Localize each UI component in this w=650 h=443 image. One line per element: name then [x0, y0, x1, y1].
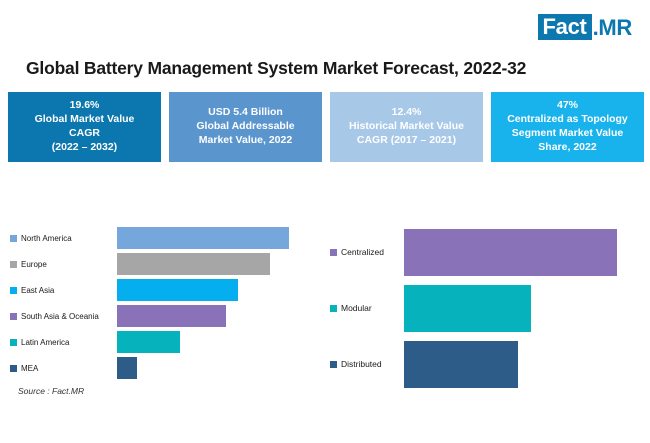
bar-track: [117, 331, 318, 353]
bar-row: Distributed: [330, 338, 640, 390]
stat-card-historical-market-value-cagr: 12.4%Historical Market ValueCAGR (2017 –…: [330, 92, 483, 162]
bar-row: Modular: [330, 282, 640, 334]
legend-item-east-asia: East Asia: [10, 286, 117, 295]
bar-track: [117, 253, 318, 275]
bar-track: [404, 285, 640, 332]
bar: [404, 341, 518, 388]
legend-swatch-icon: [330, 361, 337, 368]
panel-market-split-regions: Market Split by Regions, 2021 North Amer…: [10, 186, 318, 382]
legend-swatch-icon: [330, 305, 337, 312]
page-title: Global Battery Management System Market …: [26, 58, 626, 79]
bar-track: [117, 279, 318, 301]
stat-card-line: 47%: [557, 99, 578, 113]
legend-label: Centralized: [341, 247, 384, 257]
bar-track: [404, 229, 640, 276]
panel-header-regions: Market Split by Regions, 2021: [10, 186, 318, 212]
stat-card-line: Centralized as Topology: [507, 113, 628, 127]
bar-track: [117, 227, 318, 249]
legend-item-distributed: Distributed: [330, 359, 404, 369]
bar-row: South Asia & Oceania: [10, 304, 318, 328]
legend-swatch-icon: [10, 261, 17, 268]
stat-card-global-market-value-cagr: 19.6%Global Market ValueCAGR(2022 – 2032…: [8, 92, 161, 162]
legend-label: North America: [21, 234, 72, 243]
bar: [117, 227, 289, 249]
bar-row: North America: [10, 226, 318, 250]
factmr-logo: Fact .MR: [538, 14, 632, 40]
infographic-page: Fact .MR Global Battery Management Syste…: [0, 0, 650, 443]
stat-card-line: Share, 2022: [538, 141, 596, 155]
legend-label: South Asia & Oceania: [21, 312, 99, 321]
bar: [117, 305, 226, 327]
stat-card-line: Global Market Value: [35, 113, 135, 127]
legend-label: Modular: [341, 303, 372, 313]
stat-card-centralized-topology-share: 47%Centralized as TopologySegment Market…: [491, 92, 644, 162]
stat-card-line: Global Addressable: [196, 120, 294, 134]
legend-item-centralized: Centralized: [330, 247, 404, 257]
legend-label: Distributed: [341, 359, 382, 369]
bar-row: Centralized: [330, 226, 640, 278]
legend-swatch-icon: [10, 287, 17, 294]
bar-row: Latin America: [10, 330, 318, 354]
legend-swatch-icon: [10, 235, 17, 242]
bar-track: [117, 357, 318, 379]
bar-row: East Asia: [10, 278, 318, 302]
stat-card-global-addressable-market-value: USD 5.4 BillionGlobal AddressableMarket …: [169, 92, 322, 162]
panel-market-split-topology: Market Split by Topology, 2021 Centraliz…: [330, 186, 640, 394]
bar: [404, 285, 531, 332]
bar: [117, 279, 238, 301]
bar-track: [404, 341, 640, 388]
bar-row: Europe: [10, 252, 318, 276]
stat-card-line: CAGR: [69, 127, 100, 141]
legend-swatch-icon: [10, 339, 17, 346]
bar-row: MEA: [10, 356, 318, 380]
bar-track: [117, 305, 318, 327]
stat-card-line: CAGR (2017 – 2021): [357, 134, 456, 148]
legend-swatch-icon: [10, 365, 17, 372]
bar: [117, 253, 270, 275]
bar: [117, 357, 137, 379]
legend-label: Latin America: [21, 338, 69, 347]
chart-regions: North AmericaEuropeEast AsiaSouth Asia &…: [10, 226, 318, 380]
stat-card-line: 19.6%: [70, 99, 100, 113]
stat-card-row: 19.6%Global Market ValueCAGR(2022 – 2032…: [8, 92, 644, 162]
stat-card-line: Market Value, 2022: [199, 134, 292, 148]
legend-label: East Asia: [21, 286, 54, 295]
stat-card-line: Segment Market Value: [512, 127, 623, 141]
legend-label: Europe: [21, 260, 47, 269]
stat-card-line: Historical Market Value: [349, 120, 464, 134]
stat-card-line: (2022 – 2032): [52, 141, 117, 155]
chart-topology: CentralizedModularDistributed: [330, 226, 640, 390]
logo-mark-text: Fact: [538, 14, 592, 40]
logo-suffix-text: .MR: [592, 16, 632, 39]
source-note: Source : Fact.MR: [18, 386, 84, 396]
legend-item-south-asia-oceania: South Asia & Oceania: [10, 312, 117, 321]
legend-item-modular: Modular: [330, 303, 404, 313]
legend-label: MEA: [21, 364, 38, 373]
legend-swatch-icon: [10, 313, 17, 320]
bar: [404, 229, 617, 276]
legend-item-latin-america: Latin America: [10, 338, 117, 347]
stat-card-line: USD 5.4 Billion: [208, 106, 283, 120]
legend-item-europe: Europe: [10, 260, 117, 269]
stat-card-line: 12.4%: [392, 106, 422, 120]
legend-item-mea: MEA: [10, 364, 117, 373]
bar: [117, 331, 180, 353]
legend-swatch-icon: [330, 249, 337, 256]
legend-item-north-america: North America: [10, 234, 117, 243]
panel-header-topology: Market Split by Topology, 2021: [330, 186, 640, 212]
